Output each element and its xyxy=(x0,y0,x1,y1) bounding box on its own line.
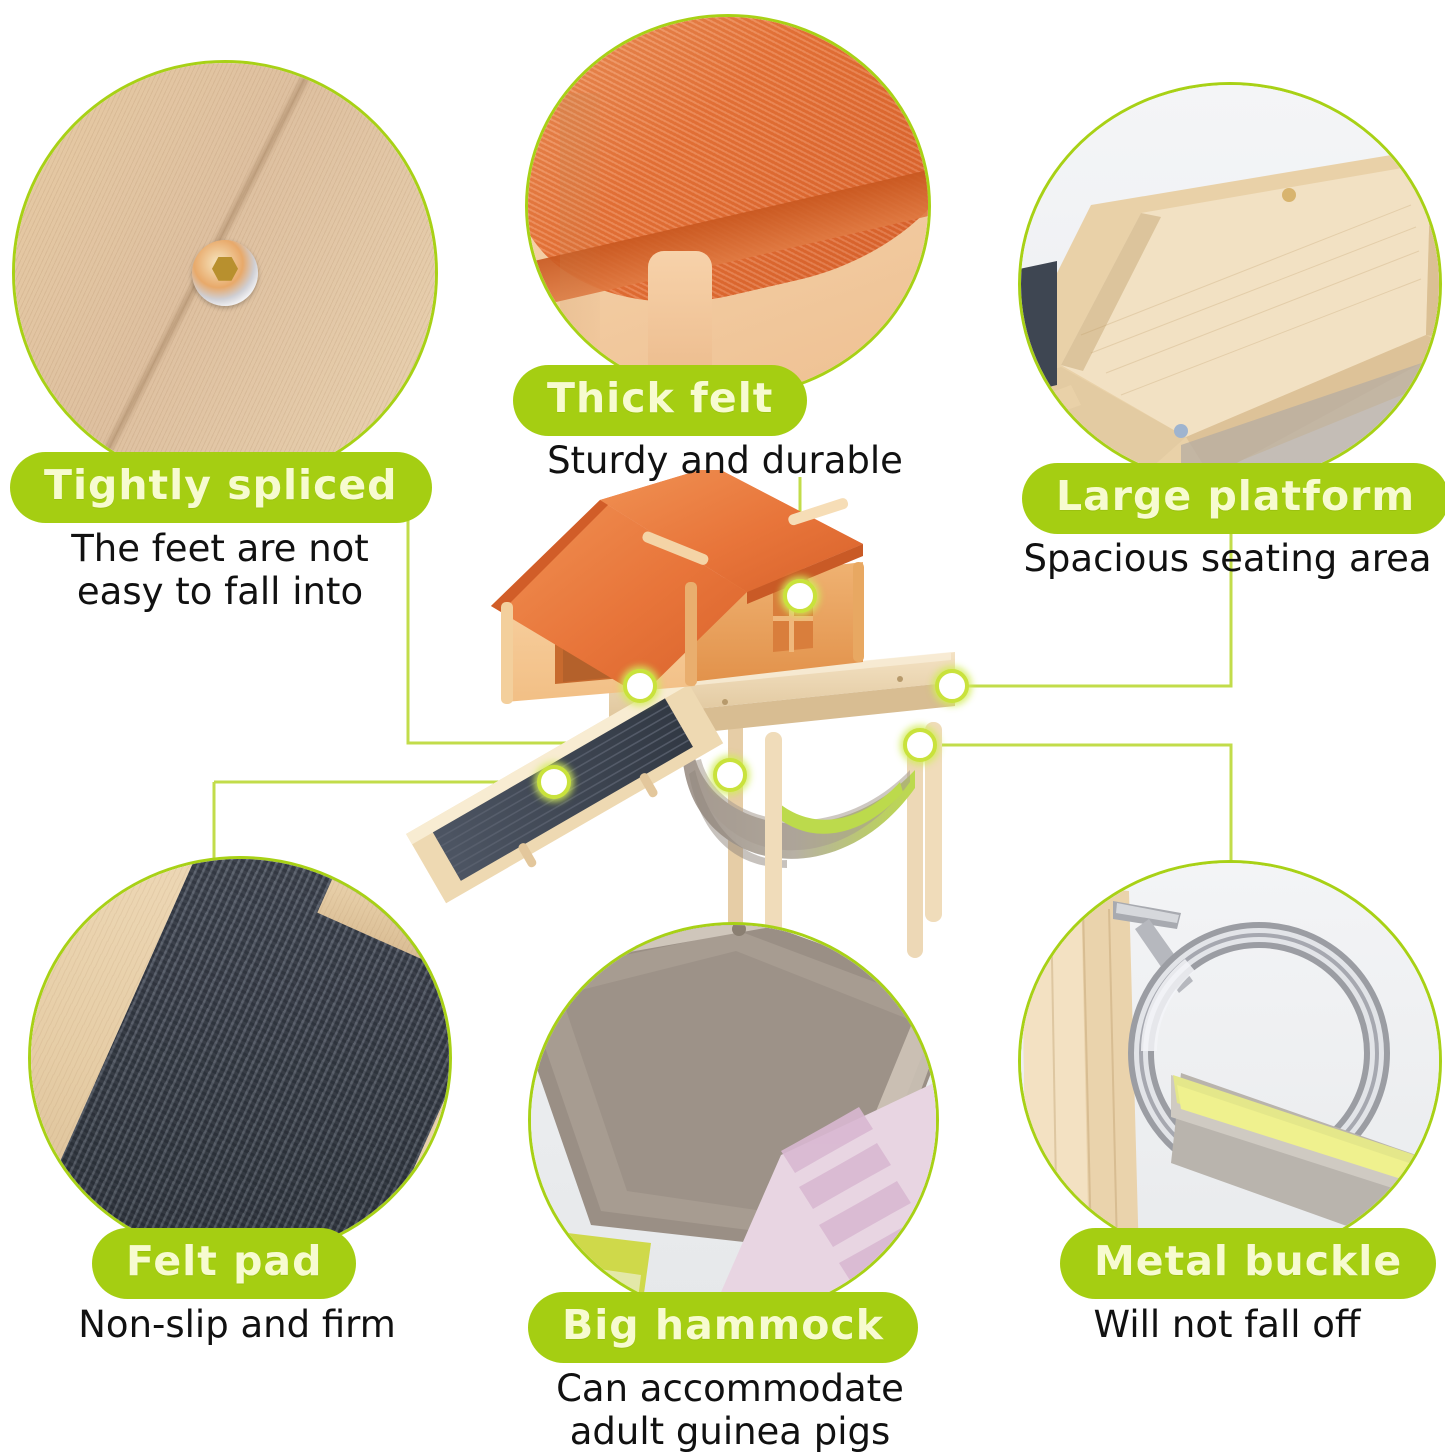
subtitle-felt-pad: Non-slip and firm xyxy=(28,1304,446,1347)
felt-covered-ramp xyxy=(406,674,729,914)
label-big-hammock: Big hammock xyxy=(528,1292,918,1363)
photo-felt-pad xyxy=(28,856,452,1260)
label-felt-pad: Felt pad xyxy=(92,1228,356,1299)
label-thick-felt: Thick felt xyxy=(513,365,807,436)
photo-thick-felt xyxy=(525,14,931,398)
dot-tightly-spliced xyxy=(623,669,657,703)
dot-metal-buckle xyxy=(903,728,937,762)
dot-felt-pad xyxy=(537,765,571,799)
dot-thick-felt xyxy=(783,579,817,613)
dot-big-hammock xyxy=(713,758,747,792)
subtitle-tightly-spliced: The feet are not easy to fall into xyxy=(20,528,420,614)
subtitle-metal-buckle: Will not fall off xyxy=(1018,1304,1436,1347)
photo-big-hammock xyxy=(528,922,939,1318)
label-tightly-spliced: Tightly spliced xyxy=(10,452,432,523)
subtitle-big-hammock: Can accommodate adult guinea pigs xyxy=(520,1368,940,1454)
photo-large-platform xyxy=(1018,82,1442,486)
dot-large-platform xyxy=(935,669,969,703)
photo-tightly-spliced xyxy=(12,60,438,486)
label-large-platform: Large platform xyxy=(1022,463,1445,534)
subtitle-large-platform: Spacious seating area xyxy=(1020,538,1435,581)
label-metal-buckle: Metal buckle xyxy=(1060,1228,1436,1299)
photo-metal-buckle xyxy=(1018,860,1442,1262)
subtitle-thick-felt: Sturdy and durable xyxy=(520,440,930,483)
infographic-canvas: Tightly spliced The feet are not easy to… xyxy=(0,0,1445,1456)
